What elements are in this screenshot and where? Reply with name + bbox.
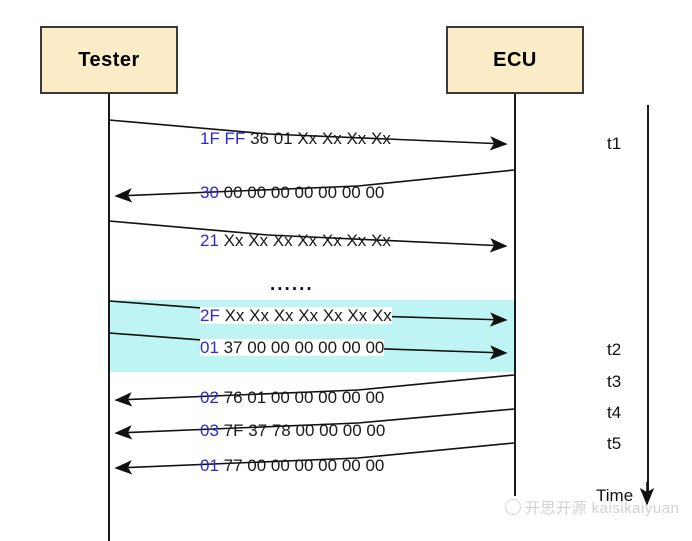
participant-label-ecu: ECU [493, 49, 537, 72]
time-mark-t5: t5 [607, 434, 621, 454]
message-head-5: 01 [200, 338, 219, 357]
watermark-text: 开思开源 kaisikaiyuan [525, 500, 679, 517]
message-row-6[interactable]: 02 76 01 00 00 00 00 00 [108, 372, 518, 406]
message-label-8: 01 77 00 00 00 00 00 00 [200, 457, 384, 474]
message-label-5: 01 37 00 00 00 00 00 00 [200, 339, 384, 356]
message-row-5[interactable]: 01 37 00 00 00 00 00 00 [108, 330, 518, 364]
message-body-7: 7F 37 78 00 00 00 00 [224, 421, 386, 440]
sequence-diagram-canvas: Tester ECU 1F FF 36 01 Xx Xx Xx Xx [0, 0, 692, 541]
message-label-1: 1F FF 36 01 Xx Xx Xx Xx [200, 130, 391, 147]
participant-box-ecu[interactable]: ECU [446, 26, 584, 94]
message-label-3: 21 Xx Xx Xx Xx Xx Xx Xx [200, 232, 391, 249]
message-body-4: Xx Xx Xx Xx Xx Xx Xx [225, 306, 392, 325]
message-row-1[interactable]: 1F FF 36 01 Xx Xx Xx Xx [108, 118, 518, 152]
message-body-2: 00 00 00 00 00 00 00 [224, 183, 385, 202]
message-label-7: 03 7F 37 78 00 00 00 00 [200, 422, 385, 439]
message-head-2: 30 [200, 183, 219, 202]
message-label-2: 30 00 00 00 00 00 00 00 [200, 184, 384, 201]
participant-label-tester: Tester [78, 49, 140, 72]
ellipsis-marker: ...... [270, 274, 314, 296]
message-head-7: 03 [200, 421, 219, 440]
message-head-8: 01 [200, 456, 219, 475]
time-mark-t4: t4 [607, 403, 621, 423]
message-head-1: 1F FF [200, 129, 245, 148]
time-mark-t2: t2 [607, 340, 621, 360]
message-label-6: 02 76 01 00 00 00 00 00 [200, 389, 384, 406]
participant-box-tester[interactable]: Tester [40, 26, 178, 94]
message-row-8[interactable]: 01 77 00 00 00 00 00 00 [108, 440, 518, 474]
message-body-3: Xx Xx Xx Xx Xx Xx Xx [224, 231, 391, 250]
message-label-4: 2F Xx Xx Xx Xx Xx Xx Xx [200, 307, 392, 324]
time-mark-t1: t1 [607, 134, 621, 154]
message-head-4: 2F [200, 306, 220, 325]
message-row-4[interactable]: 2F Xx Xx Xx Xx Xx Xx Xx [108, 298, 518, 332]
message-row-3[interactable]: 21 Xx Xx Xx Xx Xx Xx Xx [108, 219, 518, 253]
message-head-3: 21 [200, 231, 219, 250]
message-head-6: 02 [200, 388, 219, 407]
message-body-5: 37 00 00 00 00 00 00 [224, 338, 385, 357]
message-body-6: 76 01 00 00 00 00 00 [224, 388, 385, 407]
time-axis-line [647, 105, 649, 497]
message-body-8: 77 00 00 00 00 00 00 [224, 456, 385, 475]
message-row-7[interactable]: 03 7F 37 78 00 00 00 00 [108, 406, 518, 440]
watermark: 开思开源 kaisikaiyuan [505, 497, 679, 518]
time-mark-t3: t3 [607, 372, 621, 392]
message-body-1: 36 01 Xx Xx Xx Xx [250, 129, 391, 148]
message-row-2[interactable]: 30 00 00 00 00 00 00 00 [108, 166, 518, 200]
watermark-logo-icon [505, 499, 521, 515]
